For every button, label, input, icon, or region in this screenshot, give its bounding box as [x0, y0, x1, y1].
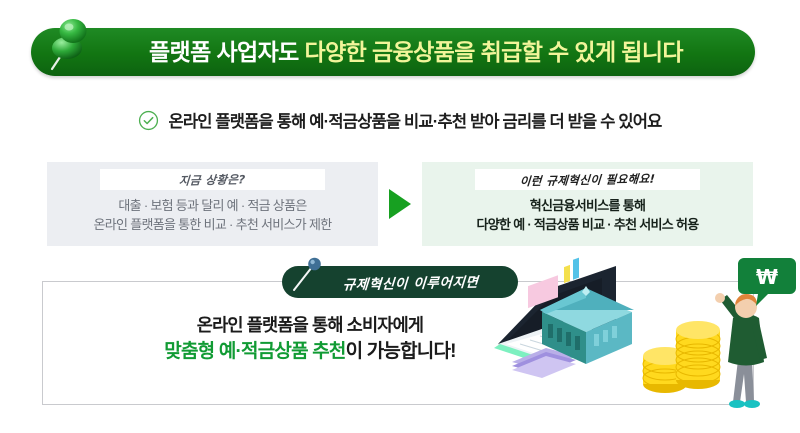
result-message-line-1: 온라인 플랫폼을 통해 소비자에게: [60, 312, 560, 338]
before-label: 지금 상황은?: [179, 171, 247, 188]
won-symbol: ₩: [756, 265, 778, 289]
before-line-1: 대출 · 보험 등과 달리 예 · 적금 상품은: [94, 197, 332, 216]
before-state-box: 지금 상황은? 대출 · 보험 등과 달리 예 · 적금 상품은 온라인 플랫폼…: [47, 162, 378, 246]
bank-laptop-coins-person-illustration: ₩: [490, 252, 800, 427]
circle-check-icon: [138, 110, 159, 131]
result-message-highlight: 맞춤형 예·적금상품 추천: [164, 341, 345, 362]
coin-stack-icon: [643, 321, 720, 393]
after-line-1: 혁신금융서비스를 통해: [477, 197, 699, 216]
result-badge-label: 규제혁신이 이루어지면: [342, 271, 479, 294]
arrow-gap: [378, 162, 422, 246]
result-badge: 규제혁신이 이루어지면: [282, 266, 518, 298]
subtitle-text: 온라인 플랫폼을 통해 예·적금상품을 비교·추천 받아 금리를 더 받을 수 …: [168, 108, 661, 132]
result-message: 온라인 플랫폼을 통해 소비자에게 맞춤형 예·적금상품 추천이 가능합니다!: [60, 312, 560, 367]
before-label-strip: 지금 상황은?: [100, 169, 325, 190]
after-body: 혁신금융서비스를 통해 다양한 예 · 적금상품 비교 · 추천 서비스 허용: [477, 197, 699, 235]
after-line-2: 다양한 예 · 적금상품 비교 · 추천 서비스 허용: [477, 216, 699, 235]
page-title-primary: 플랫폼 사업자도: [149, 39, 299, 65]
page-title: 플랫폼 사업자도 다양한 금융상품을 취급할 수 있게 됩니다: [149, 41, 683, 64]
after-state-box: 이런 규제혁신이 필요해요! 혁신금융서비스를 통해 다양한 예 · 적금상품 …: [422, 162, 753, 246]
after-label: 이런 규제혁신이 필요해요!: [519, 170, 656, 189]
after-label-strip: 이런 규제혁신이 필요해요!: [475, 169, 700, 190]
result-badge-pill: 규제혁신이 이루어지면: [282, 266, 518, 298]
page-title-accent: 다양한 금융상품을 취급할 수 있게 됩니다: [305, 39, 683, 65]
arrow-right-triangle-icon: [389, 189, 411, 219]
header-banner: 플랫폼 사업자도 다양한 금융상품을 취급할 수 있게 됩니다: [31, 28, 755, 76]
result-message-line-2: 맞춤형 예·적금상품 추천이 가능합니다!: [60, 338, 560, 367]
before-body: 대출 · 보험 등과 달리 예 · 적금 상품은 온라인 플랫폼을 통한 비교 …: [94, 197, 332, 235]
subtitle-row: 온라인 플랫폼을 통해 예·적금상품을 비교·추천 받아 금리를 더 받을 수 …: [0, 108, 800, 132]
compare-row: 지금 상황은? 대출 · 보험 등과 달리 예 · 적금 상품은 온라인 플랫폼…: [47, 162, 753, 246]
person-pointing-icon: [715, 293, 767, 408]
infographic-page: { "header": { "pin_icon": "pushpin-icon"…: [0, 0, 800, 433]
before-line-2: 온라인 플랫폼을 통한 비교 · 추천 서비스가 제한: [94, 216, 332, 235]
result-message-tail: 이 가능합니다!: [346, 341, 456, 362]
